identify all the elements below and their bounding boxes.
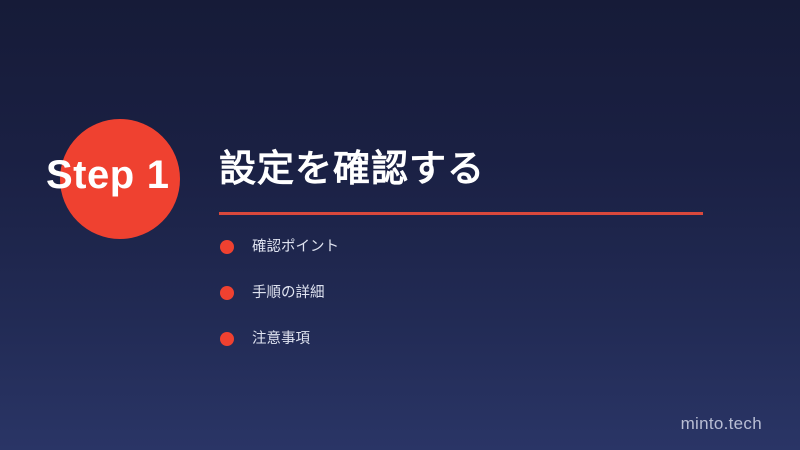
title-block: 設定を確認する: [219, 146, 759, 192]
bullet-dot-icon: [220, 332, 234, 346]
list-item-label: 注意事項: [252, 332, 310, 346]
title-underline-rule: [219, 212, 703, 215]
list-item: 手順の詳細: [220, 286, 339, 300]
list-item-label: 確認ポイント: [252, 240, 339, 254]
step-word: Step: [46, 153, 135, 197]
bullet-list: 確認ポイント 手順の詳細 注意事項: [220, 240, 339, 346]
list-item-label: 手順の詳細: [252, 286, 325, 300]
list-item: 確認ポイント: [220, 240, 339, 254]
step-number: 1: [147, 153, 170, 197]
bullet-dot-icon: [220, 240, 234, 254]
step-label: Step1: [46, 152, 169, 198]
list-item: 注意事項: [220, 332, 339, 346]
footer-watermark: minto.tech: [681, 414, 762, 434]
page-title: 設定を確認する: [219, 146, 759, 192]
presentation-slide: Step1 設定を確認する 確認ポイント 手順の詳細 注意事項 minto.te…: [0, 0, 800, 450]
bullet-dot-icon: [220, 286, 234, 300]
